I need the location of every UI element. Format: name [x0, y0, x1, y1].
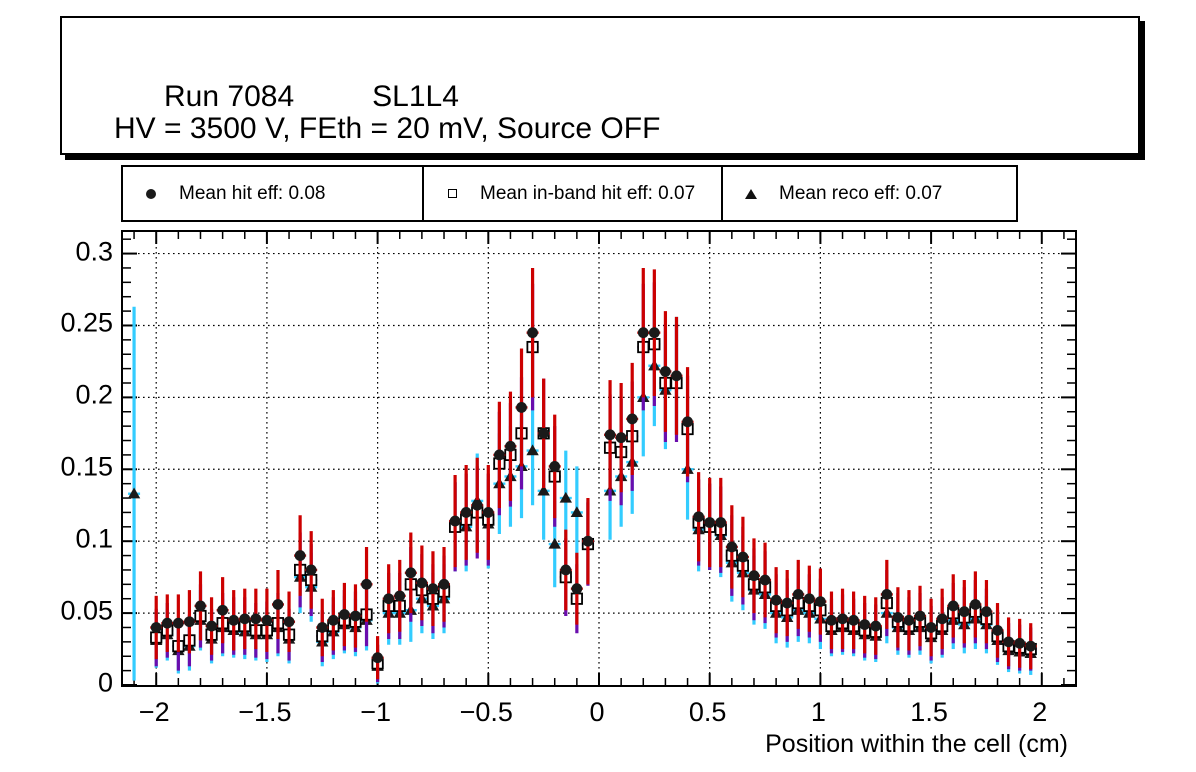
plot-canvas: Run 7084SL1L4 HV = 3500 V, FEth = 20 mV,… — [0, 0, 1196, 772]
legend-entry-hit-eff: Mean hit eff: 0.08 — [123, 167, 422, 220]
y-tick-label: 0 — [98, 668, 113, 699]
legend-entry-inband-hit-eff: Mean in-band hit eff: 0.07 — [422, 167, 721, 220]
legend-label-reco-eff: Mean reco eff: 0.07 — [779, 183, 942, 205]
x-tick-label: −1.5 — [238, 697, 291, 728]
legend-entry-reco-eff: Mean reco eff: 0.07 — [721, 167, 1016, 220]
filled-triangle-icon — [723, 189, 779, 199]
legend: Mean hit eff: 0.08 Mean in-band hit eff:… — [121, 165, 1018, 222]
plot-frame — [121, 230, 1077, 687]
x-tick-label: 2 — [1032, 697, 1047, 728]
x-tick-label: −1 — [360, 697, 391, 728]
filled-circle-icon — [123, 189, 179, 199]
title-line-settings: HV = 3500 V, FEth = 20 mV, Source OFF — [114, 112, 660, 146]
x-tick-label: 0.5 — [689, 697, 727, 728]
y-tick-label: 0.1 — [75, 524, 113, 555]
open-square-icon — [424, 189, 480, 198]
title-run: Run 7084 — [164, 80, 294, 113]
plot-area — [123, 232, 1075, 685]
y-tick-label: 0.05 — [60, 596, 113, 627]
y-tick-label: 0.3 — [75, 236, 113, 267]
x-axis-title: Position within the cell (cm) — [765, 730, 1068, 759]
legend-label-hit-eff: Mean hit eff: 0.08 — [179, 183, 325, 205]
x-tick-label: −0.5 — [460, 697, 513, 728]
title-superlayer: SL1L4 — [372, 80, 459, 113]
title-box: Run 7084SL1L4 HV = 3500 V, FEth = 20 mV,… — [60, 16, 1140, 155]
y-tick-label: 0.2 — [75, 380, 113, 411]
y-tick-label: 0.25 — [60, 308, 113, 339]
x-tick-label: −2 — [139, 697, 170, 728]
x-tick-label: 0 — [589, 697, 604, 728]
x-tick-label: 1 — [811, 697, 826, 728]
y-tick-label: 0.15 — [60, 452, 113, 483]
legend-label-inband-hit-eff: Mean in-band hit eff: 0.07 — [480, 183, 695, 205]
y-axis-labels: 00.050.10.150.20.250.3 — [0, 0, 113, 772]
x-tick-label: 1.5 — [910, 697, 948, 728]
